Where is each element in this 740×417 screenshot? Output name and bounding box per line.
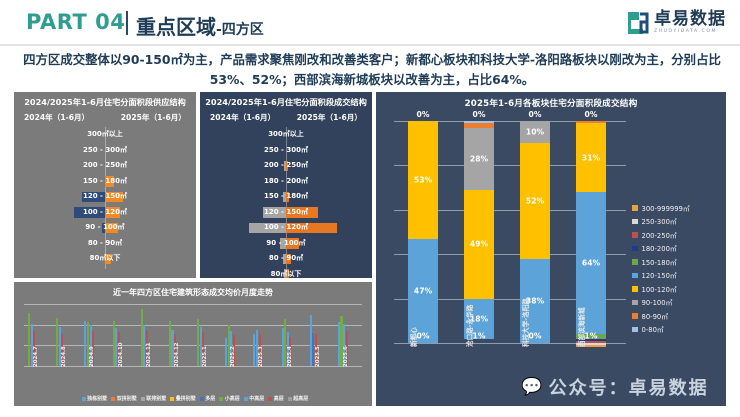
- x-axis-label: 西部滨海新城: [576, 307, 586, 347]
- trend-x-axis: 2024.72024.82024.92024.102024.112024.122…: [24, 366, 362, 392]
- butterfly-row: 80㎡以下: [200, 267, 372, 279]
- butterfly-category-label: 120 - 150㎡: [200, 207, 372, 217]
- segment-value-label-top: 0%: [520, 110, 550, 119]
- trend-legend-item[interactable]: 超高层: [288, 395, 309, 402]
- legend-swatch: [632, 313, 638, 319]
- x-axis-label: 科技大学-洛阳路: [520, 298, 530, 347]
- trend-legend-item[interactable]: 小高层: [219, 395, 240, 402]
- trend-legend-item[interactable]: 中高层: [244, 395, 265, 402]
- legend-item[interactable]: 150-180㎡: [632, 255, 718, 269]
- main-chart-body: 53%47%0%0%28%49%18%0%1%10%52%38%0%0%31%6…: [376, 109, 726, 389]
- legend-swatch: [632, 300, 638, 306]
- trend-x-label: 2025.1: [202, 346, 208, 367]
- butterfly-row: 200 - 250㎡: [14, 158, 196, 174]
- trend-legend: 独栋别墅双拼别墅联排别墅叠拼别墅多层小高层中高层高层超高层: [26, 395, 364, 402]
- butterfly-category-label: 200 - 250㎡: [200, 160, 372, 170]
- butterfly-row: 180 - 200㎡: [200, 174, 372, 190]
- butterfly-row: 250 - 300㎡: [200, 143, 372, 159]
- stack-segment: 53%: [408, 121, 438, 239]
- trend-x-label: 2024.8: [61, 346, 67, 367]
- main-legend: 300-999999㎡250-300㎡200-250㎡180-200㎡150-1…: [632, 201, 718, 336]
- trend-legend-label: 高层: [274, 395, 284, 402]
- stack-segment: 52%: [520, 143, 550, 258]
- butterfly-row: 120 - 150㎡: [14, 189, 196, 205]
- page-title: 重点区域-四方区: [136, 11, 264, 40]
- legend-swatch: [632, 273, 638, 279]
- trend-x-label: 2024.7: [33, 346, 39, 367]
- watermark: 💬 公众号：卓易数据: [500, 372, 730, 402]
- trend-legend-swatch: [141, 397, 145, 401]
- trend-legend-item[interactable]: 多层: [200, 395, 216, 402]
- legend-label: 100-120㎡: [642, 284, 677, 294]
- butterfly-row: 100 - 120㎡: [200, 220, 372, 236]
- legend-item[interactable]: 80-90㎡: [632, 309, 718, 323]
- stack-segment: 49%: [464, 190, 494, 299]
- header-divider: [126, 11, 128, 35]
- page-title-sub: -四方区: [216, 22, 264, 38]
- butterfly-category-label: 90 - 100㎡: [14, 222, 196, 232]
- panel-supply-year-right: 2025年（1-6月）: [121, 112, 186, 123]
- butterfly-category-label: 100 - 120㎡: [200, 222, 372, 232]
- segment-value-label-top: 0%: [464, 110, 494, 119]
- legend-swatch: [632, 259, 638, 265]
- x-axis-label: 沧口路-永华路: [464, 305, 474, 347]
- legend-label: 0-80㎡: [642, 324, 664, 334]
- butterfly-category-label: 80㎡以下: [200, 269, 372, 279]
- legend-label: 120-150㎡: [642, 270, 677, 280]
- segment-value-label: 31%: [576, 153, 606, 162]
- butterfly-category-label: 100 - 120㎡: [14, 207, 196, 217]
- panel-deal-legend: 2024年（1-6月） 2025年（1-6月）: [200, 108, 372, 123]
- trend-x-label: 2024.10: [118, 342, 124, 367]
- trend-x-label: 2024.12: [174, 342, 180, 367]
- butterfly-row: 80㎡以下: [14, 251, 196, 267]
- butterfly-row: 300㎡以上: [14, 127, 196, 143]
- panel-deal-year-left: 2024年（1-6月）: [210, 112, 275, 123]
- butterfly-row: 120 - 150㎡: [200, 205, 372, 221]
- trend-legend-item[interactable]: 叠拼别墅: [170, 395, 196, 402]
- butterfly-category-label: 200 - 250㎡: [14, 160, 196, 170]
- butterfly-row: 200 - 250㎡: [200, 158, 372, 174]
- trend-legend-swatch: [219, 397, 223, 401]
- logo-text-cn: 卓易数据: [654, 11, 726, 28]
- panel-supply-legend: 2024年（1-6月） 2025年（1-6月）: [14, 108, 196, 123]
- page-title-main: 重点区域: [136, 15, 216, 39]
- butterfly-category-label: 120 - 150㎡: [14, 191, 196, 201]
- brand-logo: 卓易数据 ZHUOYIDATA.COM: [625, 7, 726, 39]
- panel-deal-structure: 2024/2025年1-6月住宅分面积段成交结构 2024年（1-6月） 202…: [200, 92, 372, 278]
- slide-header: PART 04 重点区域-四方区 卓易数据 ZHUOYIDATA.COM: [0, 0, 740, 47]
- butterfly-row: 80 - 90㎡: [14, 236, 196, 252]
- trend-legend-swatch: [111, 397, 115, 401]
- trend-legend-label: 超高层: [293, 395, 308, 402]
- legend-label: 80-90㎡: [642, 311, 669, 321]
- legend-label: 300-999999㎡: [642, 203, 690, 213]
- butterfly-category-label: 150 - 180㎡: [14, 176, 196, 186]
- trend-x-label: 2025.3: [258, 346, 264, 367]
- butterfly-row: 300㎡以上: [200, 127, 372, 143]
- legend-swatch: [632, 205, 638, 211]
- legend-item[interactable]: 90-100㎡: [632, 296, 718, 310]
- trend-x-label: 2025.5: [315, 346, 321, 367]
- legend-label: 90-100㎡: [642, 297, 673, 307]
- trend-chart-title: 近一年四方区住宅建筑形态成交均价月度走势: [14, 282, 372, 298]
- part-label: PART 04: [26, 10, 125, 34]
- butterfly-category-label: 80 - 90㎡: [200, 253, 372, 263]
- logo-mark-icon: [625, 10, 650, 36]
- legend-item[interactable]: 180-200㎡: [632, 242, 718, 256]
- wechat-icon: 💬: [521, 377, 542, 397]
- trend-legend-swatch: [170, 397, 174, 401]
- segment-value-label: 49%: [464, 240, 494, 249]
- supply-butterfly-chart: 300㎡以上250 - 300㎡200 - 250㎡150 - 180㎡120 …: [14, 127, 196, 269]
- legend-swatch: [632, 246, 638, 252]
- butterfly-category-label: 150 - 180㎡: [200, 191, 372, 201]
- butterfly-category-label: 80 - 90㎡: [14, 238, 196, 248]
- panel-supply-title: 2024/2025年1-6月住宅分面积段供应结构: [14, 92, 196, 108]
- panel-supply-structure: 2024/2025年1-6月住宅分面积段供应结构 2024年（1-6月） 202…: [14, 92, 196, 278]
- x-axis-label: 新都心: [408, 327, 418, 347]
- segment-value-label: 53%: [408, 175, 438, 184]
- panel-deal-year-right: 2025年（1-6月）: [297, 112, 362, 123]
- butterfly-category-label: 80㎡以下: [14, 253, 196, 263]
- panel-supply-year-left: 2024年（1-6月）: [24, 112, 89, 123]
- butterfly-category-label: 250 - 300㎡: [14, 145, 196, 155]
- legend-label: 250-300㎡: [642, 216, 677, 226]
- trend-legend-item[interactable]: 联排别墅: [141, 395, 167, 402]
- trend-legend-label: 独栋别墅: [87, 395, 107, 402]
- trend-x-label: 2025.2: [230, 346, 236, 367]
- segment-value-label-top: 0%: [408, 110, 438, 119]
- segment-value-label: 52%: [520, 196, 550, 205]
- stack-segment: 28%: [464, 128, 494, 190]
- trend-legend-label: 双拼别墅: [117, 395, 137, 402]
- main-plot-area: 53%47%0%0%28%49%18%0%1%10%52%38%0%0%31%6…: [394, 121, 626, 343]
- segment-value-label: 47%: [408, 286, 438, 295]
- legend-item[interactable]: 200-250㎡: [632, 228, 718, 242]
- header-rule: [0, 44, 740, 46]
- legend-item[interactable]: 120-150㎡: [632, 269, 718, 283]
- trend-x-label: 2025.6: [343, 346, 349, 367]
- segment-value-label: 64%: [576, 259, 606, 268]
- trend-legend-item[interactable]: 独栋别墅: [82, 395, 108, 402]
- segment-value-label-top: 0%: [576, 110, 606, 119]
- trend-legend-label: 中高层: [249, 395, 264, 402]
- butterfly-row: 90 - 100㎡: [200, 236, 372, 252]
- butterfly-row: 150 - 180㎡: [14, 174, 196, 190]
- trend-x-label: 2025.4: [287, 346, 293, 367]
- legend-swatch: [632, 327, 638, 333]
- segment-value-label: 28%: [464, 154, 494, 163]
- trend-legend-item[interactable]: 高层: [268, 395, 284, 402]
- main-chart-title: 2025年1-6月各板块住宅分面积段成交结构: [376, 92, 726, 109]
- legend-item[interactable]: 100-120㎡: [632, 282, 718, 296]
- stack-segment: 31%: [576, 123, 606, 192]
- panel-deal-title: 2024/2025年1-6月住宅分面积段成交结构: [200, 92, 372, 108]
- trend-legend-swatch: [82, 397, 86, 401]
- trend-x-label: 2024.11: [146, 342, 152, 367]
- stack-segment: 10%: [520, 121, 550, 143]
- butterfly-row: 250 - 300㎡: [14, 143, 196, 159]
- butterfly-category-label: 300㎡以上: [200, 129, 372, 139]
- legend-swatch: [632, 219, 638, 225]
- segment-value-label: 10%: [520, 128, 550, 137]
- legend-item[interactable]: 250-300㎡: [632, 215, 718, 229]
- trend-legend-swatch: [200, 397, 204, 401]
- trend-legend-label: 多层: [205, 395, 215, 402]
- trend-legend-swatch: [244, 397, 248, 401]
- legend-label: 150-180㎡: [642, 257, 677, 267]
- butterfly-category-label: 250 - 300㎡: [200, 145, 372, 155]
- legend-label: 200-250㎡: [642, 230, 677, 240]
- trend-legend-swatch: [288, 397, 292, 401]
- trend-legend-item[interactable]: 双拼别墅: [111, 395, 137, 402]
- deal-butterfly-chart: 300㎡以上250 - 300㎡200 - 250㎡180 - 200㎡150 …: [200, 127, 372, 269]
- trend-legend-label: 小高层: [225, 395, 240, 402]
- trend-legend-swatch: [268, 397, 272, 401]
- legend-label: 180-200㎡: [642, 243, 677, 253]
- butterfly-category-label: 180 - 200㎡: [200, 176, 372, 186]
- trend-legend-label: 联排别墅: [146, 395, 166, 402]
- butterfly-category-label: 300㎡以上: [14, 129, 196, 139]
- legend-item[interactable]: 300-999999㎡: [632, 201, 718, 215]
- stacked-bar: 53%47%0%0%: [408, 121, 438, 343]
- trend-x-label: 2024.9: [89, 346, 95, 367]
- legend-swatch: [632, 232, 638, 238]
- trend-legend-label: 叠拼别墅: [176, 395, 196, 402]
- butterfly-row: 80 - 90㎡: [200, 251, 372, 267]
- logo-text-en: ZHUOYIDATA.COM: [654, 30, 726, 35]
- panel-plate-structure: 2025年1-6月各板块住宅分面积段成交结构 53%47%0%0%28%49%1…: [376, 92, 726, 406]
- trend-plot-area: [24, 304, 362, 366]
- butterfly-row: 90 - 100㎡: [14, 220, 196, 236]
- legend-swatch: [632, 286, 638, 292]
- butterfly-row: 150 - 180㎡: [200, 189, 372, 205]
- butterfly-row: 100 - 120㎡: [14, 205, 196, 221]
- butterfly-category-label: 90 - 100㎡: [200, 238, 372, 248]
- watermark-text: 公众号：卓易数据: [549, 374, 709, 400]
- summary-paragraph: 四方区成交整体以90-150㎡为主，产品需求聚焦刚改和改善类客户；新都心板块和科…: [22, 50, 722, 90]
- slide-root: PART 04 重点区域-四方区 卓易数据 ZHUOYIDATA.COM 四方区…: [0, 0, 740, 417]
- panel-price-trend: 近一年四方区住宅建筑形态成交均价月度走势 2024.72024.82024.92…: [14, 282, 372, 406]
- legend-item[interactable]: 0-80㎡: [632, 323, 718, 337]
